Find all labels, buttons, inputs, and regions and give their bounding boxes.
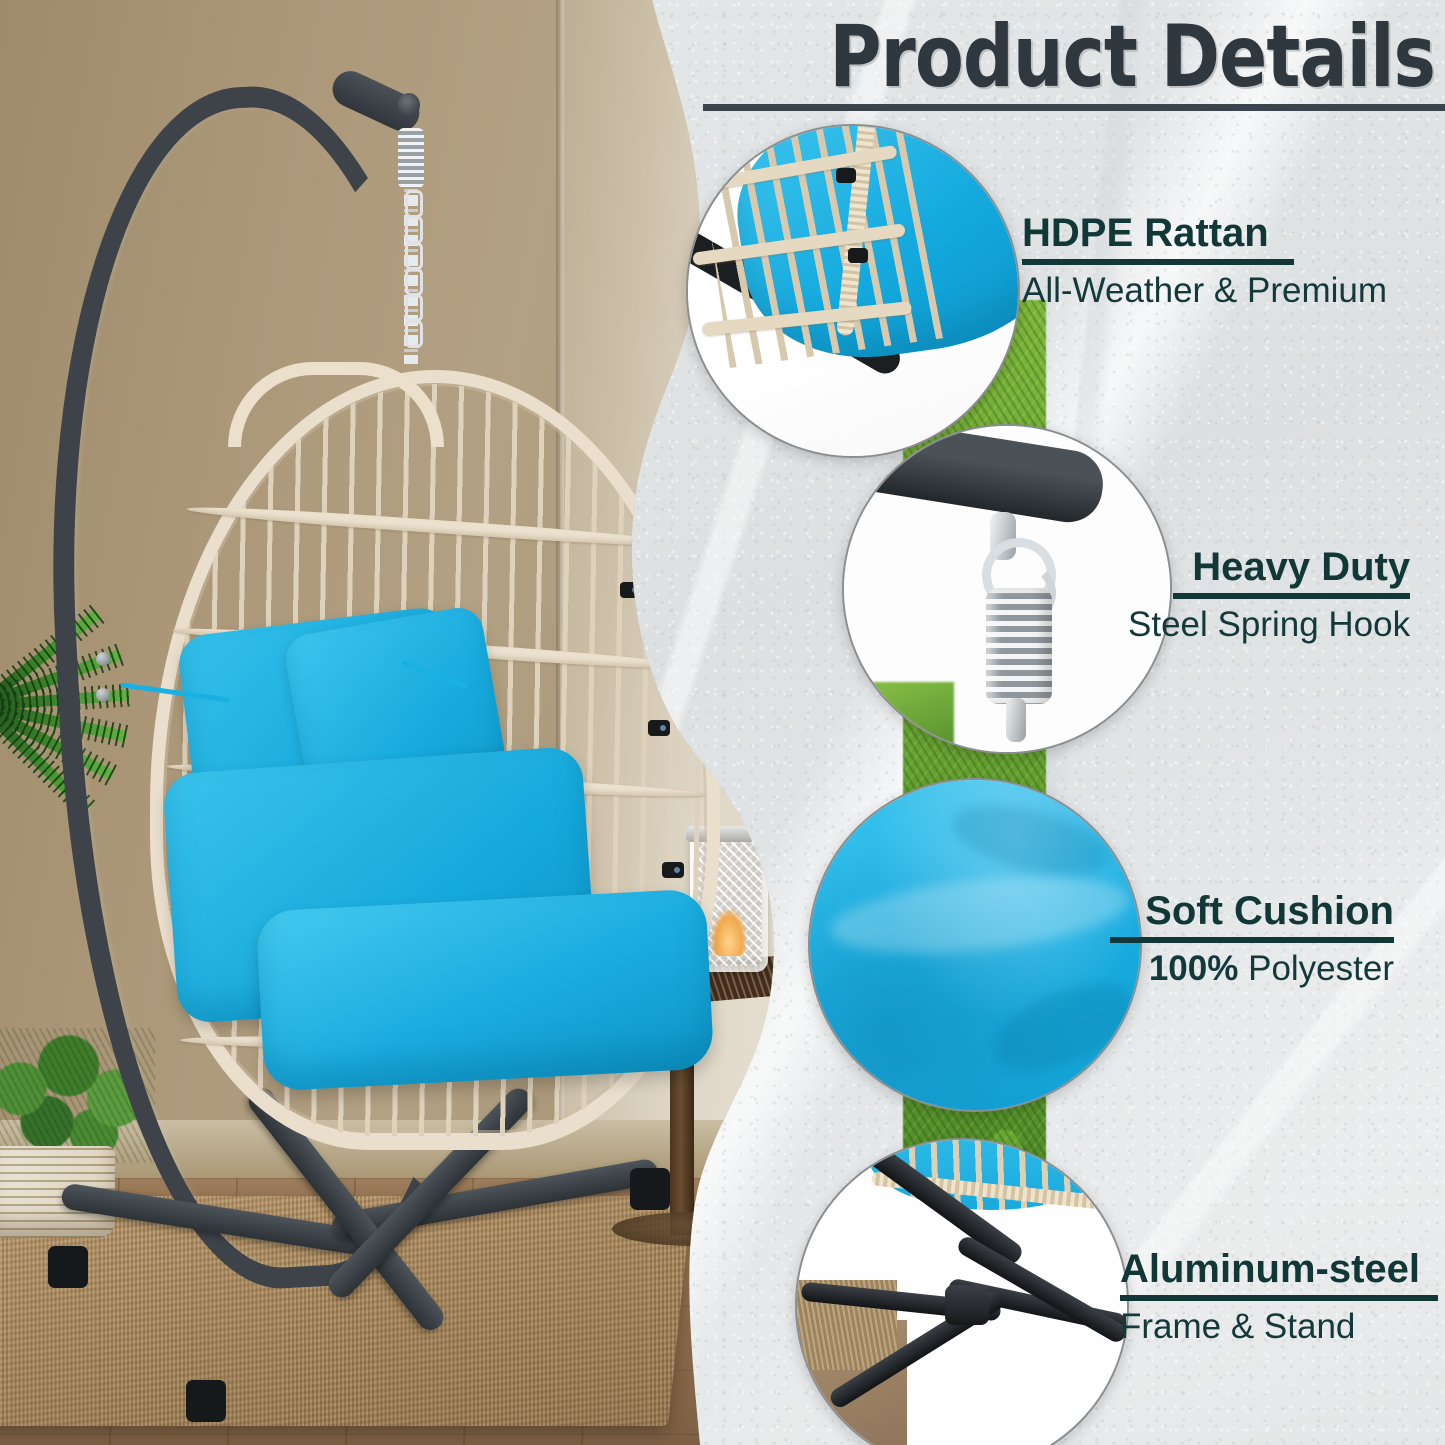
rattan-clip: [662, 862, 684, 878]
foliage-in-circle: [844, 682, 954, 752]
steel-spring-coil: [986, 588, 1052, 704]
detail-circle-aluminum-steel: [795, 1138, 1129, 1445]
stand-arm-cap: [398, 93, 420, 117]
feature-subtext: Frame & Stand: [1120, 1307, 1355, 1346]
feature-label-aluminum-steel: Aluminum-steel Frame & Stand: [1120, 1248, 1438, 1346]
feature-underline: [1173, 593, 1410, 599]
feature-label-heavy-duty: Heavy Duty Steel Spring Hook: [1128, 546, 1410, 644]
rattan-clip: [848, 248, 868, 263]
feature-heading: Aluminum-steel: [1120, 1248, 1420, 1290]
feature-subtext-bold: 100%: [1149, 949, 1239, 988]
stand-foot-right: [630, 1168, 670, 1210]
rattan-clip: [648, 720, 670, 736]
feature-subtext: 100% Polyester: [1149, 949, 1394, 988]
feature-subtext: All-Weather & Premium: [1022, 271, 1387, 310]
spring-tail-link: [1006, 698, 1026, 742]
product-photo: [0, 0, 790, 1445]
stand-screws: [96, 652, 112, 712]
stand-foot-left: [48, 1246, 88, 1288]
feature-subtext: Steel Spring Hook: [1128, 605, 1410, 644]
feature-heading: Soft Cushion: [1145, 890, 1394, 932]
feature-heading: Heavy Duty: [1192, 546, 1410, 588]
stand-foot-front: [186, 1380, 226, 1422]
feature-subtext-rest: Polyester: [1238, 949, 1394, 988]
detail-circle-soft-cushion: [808, 778, 1142, 1112]
spring-hanger: [398, 128, 424, 188]
detail-circle-hdpe-rattan: [686, 124, 1020, 458]
title-underline: [703, 104, 1445, 111]
detail-circle-heavy-duty: [842, 424, 1172, 754]
product-details-infographic: Product Details: [0, 0, 1445, 1445]
stand-center-hub: [945, 1285, 989, 1325]
page-title: Product Details: [667, 14, 1435, 100]
seat-cushion: [256, 888, 715, 1091]
feature-heading: HDPE Rattan: [1022, 212, 1269, 254]
feature-label-hdpe-rattan: HDPE Rattan All-Weather & Premium: [1022, 212, 1387, 310]
hanging-chain: [404, 186, 418, 364]
rattan-clip: [836, 168, 856, 183]
feature-label-soft-cushion: Soft Cushion 100% Polyester: [1110, 890, 1394, 988]
feature-underline: [1022, 259, 1294, 265]
feature-underline: [1120, 1295, 1438, 1301]
feature-underline: [1110, 937, 1394, 943]
